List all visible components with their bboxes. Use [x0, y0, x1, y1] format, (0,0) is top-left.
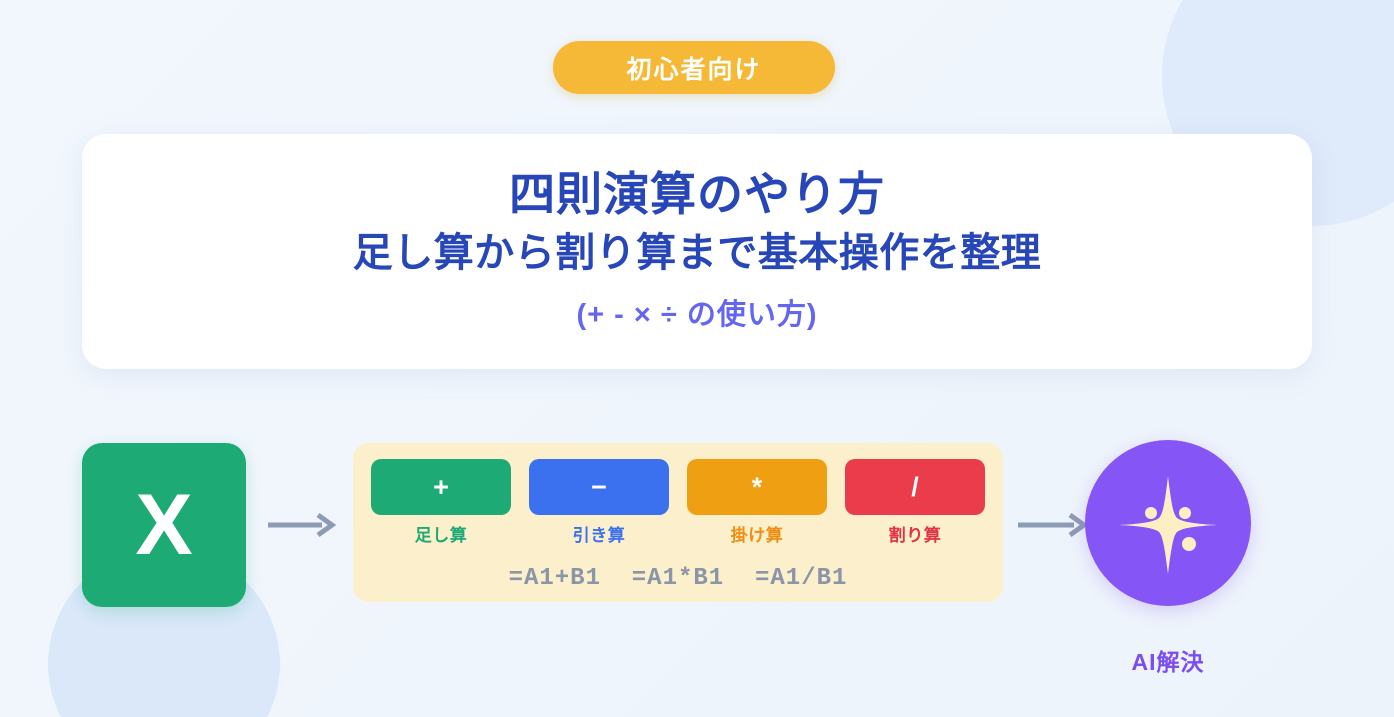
operator-chip-row: + 足し算 − 引き算 * 掛け算 / 割り算 — [371, 459, 985, 546]
ai-sparkle-icon — [1113, 468, 1223, 578]
operator-item-add: + 足し算 — [371, 459, 511, 546]
asterisk-operator-chip: * — [687, 459, 827, 515]
flow-diagram: X + 足し算 − 引き算 * 掛け算 — [0, 420, 1394, 700]
ai-destination-label: AI解決 — [1132, 643, 1205, 677]
slash-operator-chip: / — [845, 459, 985, 515]
audience-badge: 初心者向け — [553, 41, 835, 94]
operator-label-subtract: 引き算 — [573, 521, 626, 546]
excel-source-tile: X — [82, 443, 246, 607]
operators-panel: + 足し算 − 引き算 * 掛け算 / 割り算 =A1+B1 =A1*B1 =A… — [353, 443, 1003, 602]
page-title: 四則演算のやり方 — [509, 170, 885, 218]
plus-operator-chip: + — [371, 459, 511, 515]
operator-label-divide: 割り算 — [889, 521, 942, 546]
title-card: 四則演算のやり方 足し算から割り算まで基本操作を整理 (+ - × ÷ の使い方… — [82, 134, 1312, 369]
excel-x-icon: X — [135, 482, 192, 568]
flow-arrow-ops-to-ai — [1018, 513, 1090, 537]
operator-label-add: 足し算 — [415, 521, 468, 546]
ai-destination-node: AI解決 — [1084, 440, 1252, 677]
infographic-canvas: 初心者向け 四則演算のやり方 足し算から割り算まで基本操作を整理 (+ - × … — [0, 0, 1394, 717]
operator-item-multiply: * 掛け算 — [687, 459, 827, 546]
operator-item-subtract: − 引き算 — [529, 459, 669, 546]
minus-operator-chip: − — [529, 459, 669, 515]
ai-circle — [1085, 440, 1251, 606]
page-note: (+ - × ÷ の使い方) — [577, 291, 818, 333]
operator-item-divide: / 割り算 — [845, 459, 985, 546]
page-subtitle: 足し算から割り算まで基本操作を整理 — [353, 231, 1042, 275]
formula-examples: =A1+B1 =A1*B1 =A1/B1 — [353, 565, 1003, 592]
flow-arrow-source-to-ops — [268, 513, 338, 537]
operator-label-multiply: 掛け算 — [731, 521, 784, 546]
